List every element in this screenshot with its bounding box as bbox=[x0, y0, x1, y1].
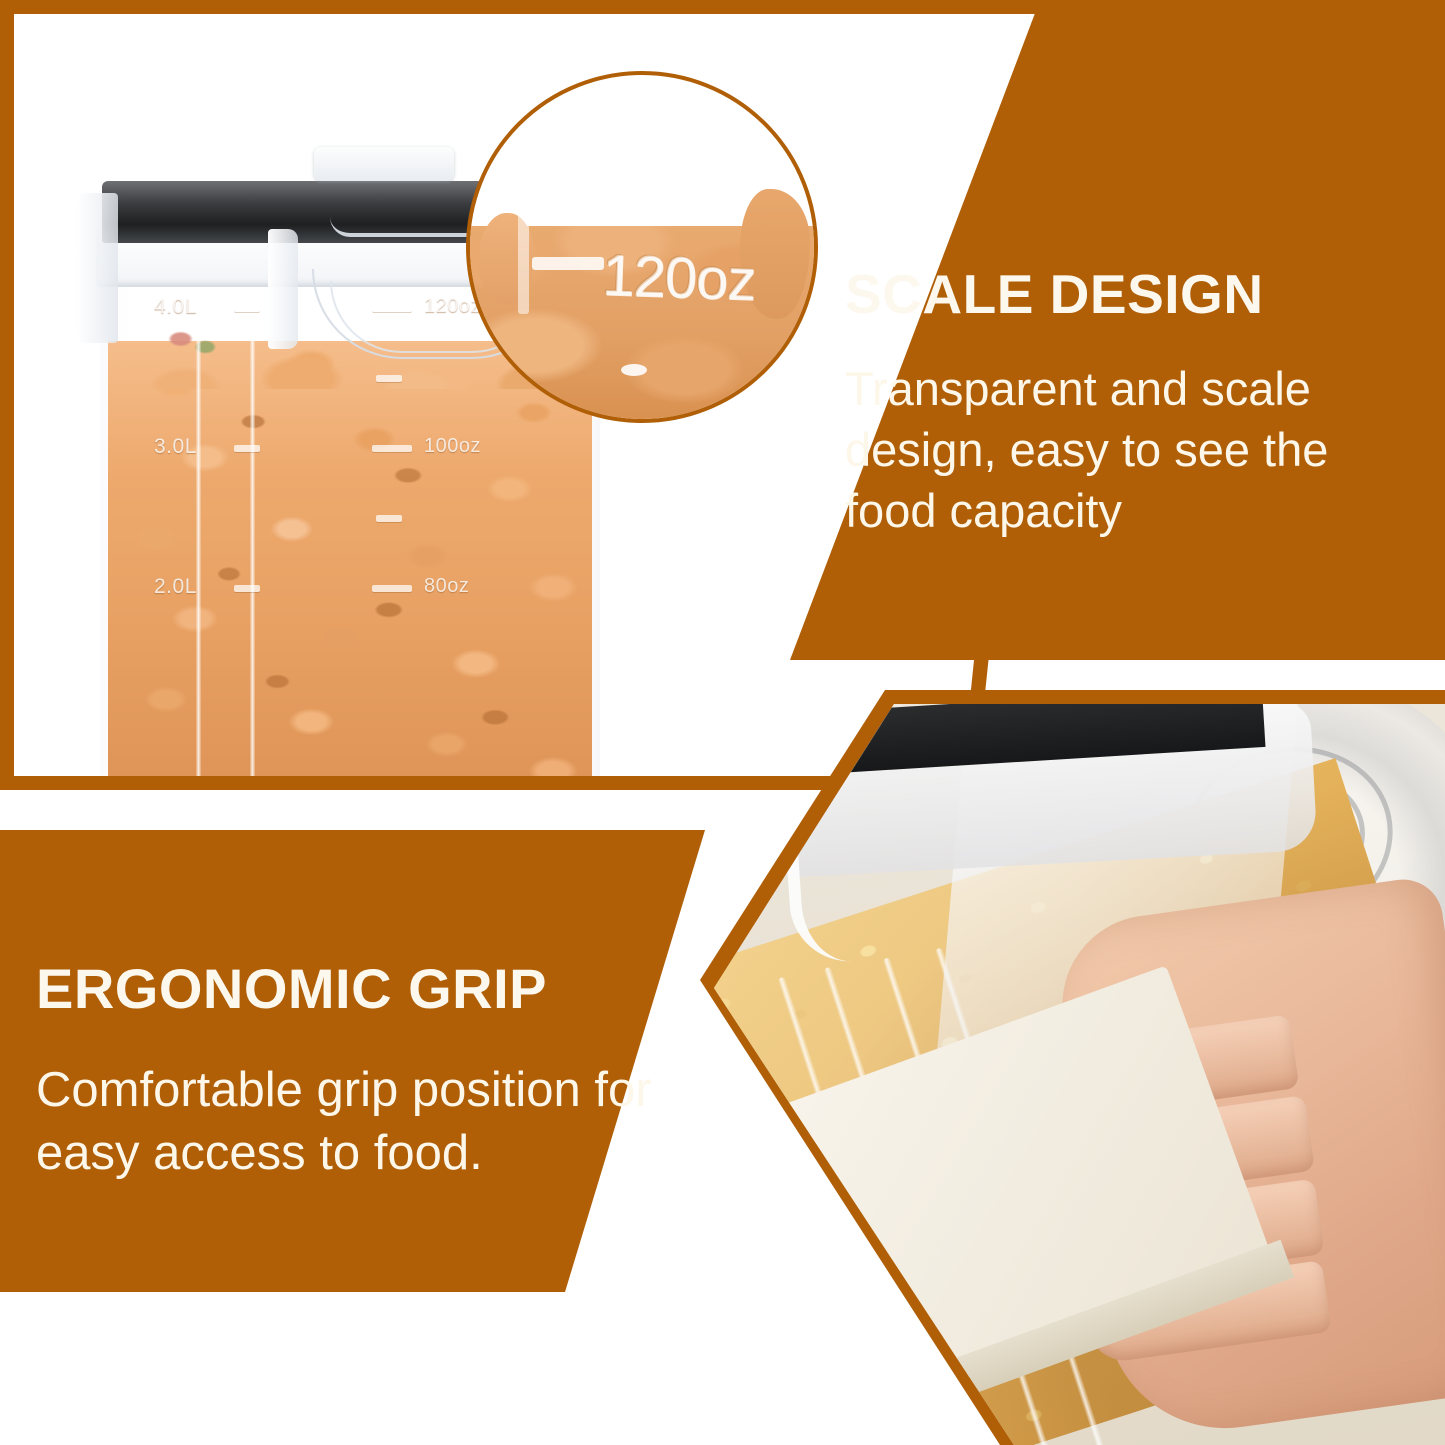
magnifier-circle: 120oz bbox=[466, 71, 818, 423]
lid-flip-tab bbox=[314, 147, 454, 181]
grip-photo bbox=[714, 704, 1445, 1445]
container-rib bbox=[196, 279, 201, 776]
ergonomic-grip-text-group: ERGONOMIC GRIP Comfortable grip position… bbox=[36, 960, 696, 1186]
bottom-right-photo bbox=[714, 704, 1445, 1445]
scale-design-text-group: SCALE DESIGN Transparent and scale desig… bbox=[845, 266, 1415, 541]
magnified-scale-label: 120oz bbox=[601, 241, 756, 313]
lid-hinge bbox=[76, 193, 118, 343]
magnified-scale-tick bbox=[532, 257, 604, 270]
lid-latch-clip bbox=[268, 229, 298, 349]
vegetable-pasta-piece bbox=[162, 323, 224, 363]
magnified-scale-tick bbox=[526, 195, 582, 206]
infographic-canvas: 120oz 100oz 80oz 4.0L 3.0L 2.0L bbox=[0, 0, 1445, 1445]
scale-design-body: Transparent and scale design, easy to se… bbox=[845, 358, 1415, 541]
ergonomic-grip-headline: ERGONOMIC GRIP bbox=[36, 960, 696, 1019]
ergonomic-grip-body: Comfortable grip position for easy acces… bbox=[36, 1059, 696, 1186]
scale-design-headline: SCALE DESIGN bbox=[845, 266, 1415, 324]
magnified-scale-bar bbox=[518, 206, 529, 314]
container-rib bbox=[250, 279, 255, 776]
